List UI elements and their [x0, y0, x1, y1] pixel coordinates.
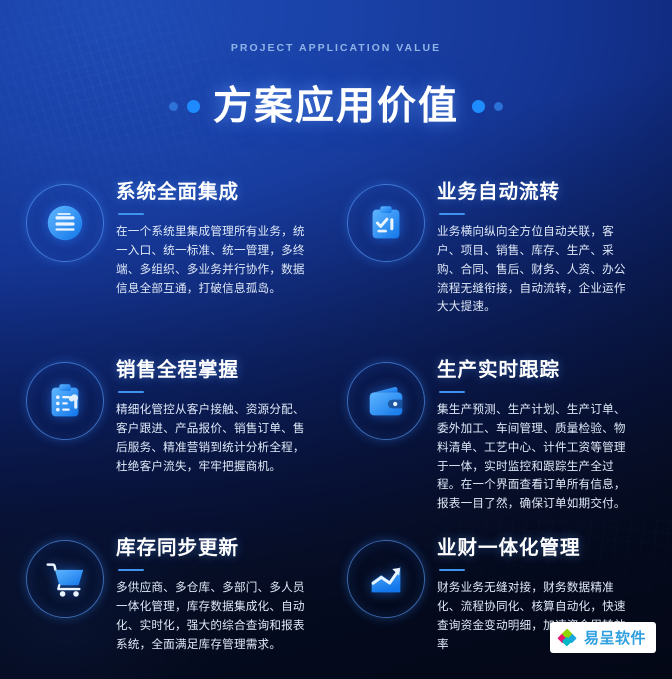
wallet-icon	[363, 378, 409, 424]
card-title: 系统全面集成	[116, 182, 316, 203]
card-description: 集生产预测、生产计划、生产订单、委外加工、车间管理、质量检验、物料清单、工艺中心…	[437, 401, 637, 514]
card-rule	[118, 213, 144, 216]
dot-icon	[472, 100, 485, 113]
dot-icon	[169, 102, 178, 111]
clipboard-check-icon	[363, 200, 409, 246]
card-rule	[439, 391, 465, 394]
card-title: 业财一体化管理	[437, 538, 637, 559]
icon-badge	[26, 362, 104, 440]
icon-badge	[26, 184, 104, 262]
dot-icon	[494, 102, 503, 111]
value-card: 库存同步更新 多供应商、多仓库、多部门、多人员一体化管理，库存数据集成化、自动化…	[26, 532, 329, 679]
card-rule	[439, 569, 465, 572]
clipboard-list-tool-icon	[42, 378, 88, 424]
growth-chart-icon	[363, 556, 409, 602]
card-rule	[118, 569, 144, 572]
decorative-dots-right	[472, 100, 503, 113]
card-body: 销售全程掌握 精细化管控从客户接触、资源分配、客户跟进、产品报价、销售订单、售后…	[116, 354, 316, 476]
card-description: 多供应商、多仓库、多部门、多人员一体化管理，库存数据集成化、自动化、实时化，强大…	[116, 579, 316, 654]
icon-badge	[347, 362, 425, 440]
value-card: 系统全面集成 在一个系统里集成管理所有业务，统一入口、统一标准、统一管理，多终端…	[26, 176, 329, 346]
icon-badge	[26, 540, 104, 618]
card-description: 精细化管控从客户接触、资源分配、客户跟进、产品报价、销售订单、售后服务、精准营销…	[116, 401, 316, 476]
card-description: 业务横向纵向全方位自动关联，客户、项目、销售、库存、生产、采购、合同、售后、财务…	[437, 223, 637, 317]
document-lines-icon	[42, 200, 88, 246]
shopping-cart-icon	[42, 556, 88, 602]
card-body: 生产实时跟踪 集生产预测、生产计划、生产订单、委外加工、车间管理、质量检验、物料…	[437, 354, 637, 514]
card-title: 库存同步更新	[116, 538, 316, 559]
dot-icon	[187, 100, 200, 113]
company-logo: 易呈软件	[550, 622, 656, 653]
card-body: 业务自动流转 业务横向纵向全方位自动关联，客户、项目、销售、库存、生产、采购、合…	[437, 176, 637, 317]
card-title: 销售全程掌握	[116, 360, 316, 381]
title-row: 方案应用价值	[0, 61, 672, 152]
logo-diamond-icon	[557, 627, 578, 648]
card-rule	[118, 391, 144, 394]
poster-header: PROJECT APPLICATION VALUE 方案应用价值	[0, 0, 672, 152]
icon-badge	[347, 184, 425, 262]
card-body: 系统全面集成 在一个系统里集成管理所有业务，统一入口、统一标准、统一管理，多终端…	[116, 176, 316, 298]
poster-canvas: PROJECT APPLICATION VALUE 方案应用价值	[0, 0, 672, 679]
value-card: 业务自动流转 业务横向纵向全方位自动关联，客户、项目、销售、库存、生产、采购、合…	[347, 176, 650, 346]
value-cards-grid: 系统全面集成 在一个系统里集成管理所有业务，统一入口、统一标准、统一管理，多终端…	[0, 176, 672, 679]
decorative-dots-left	[169, 100, 200, 113]
value-card: 业财一体化管理 财务业务无缝对接，财务数据精准化、流程协同化、核算自动化，快速查…	[347, 532, 650, 679]
card-body: 库存同步更新 多供应商、多仓库、多部门、多人员一体化管理，库存数据集成化、自动化…	[116, 532, 316, 654]
card-title: 业务自动流转	[437, 182, 637, 203]
card-description: 在一个系统里集成管理所有业务，统一入口、统一标准、统一管理，多终端、多组织、多业…	[116, 223, 316, 298]
card-rule	[439, 213, 465, 216]
eyebrow-text: PROJECT APPLICATION VALUE	[0, 42, 672, 54]
value-card: 销售全程掌握 精细化管控从客户接触、资源分配、客户跟进、产品报价、销售订单、售后…	[26, 354, 329, 524]
icon-badge	[347, 540, 425, 618]
card-title: 生产实时跟踪	[437, 360, 637, 381]
page-title: 方案应用价值	[213, 87, 459, 126]
logo-text: 易呈软件	[584, 627, 646, 648]
value-card: 生产实时跟踪 集生产预测、生产计划、生产订单、委外加工、车间管理、质量检验、物料…	[347, 354, 650, 524]
